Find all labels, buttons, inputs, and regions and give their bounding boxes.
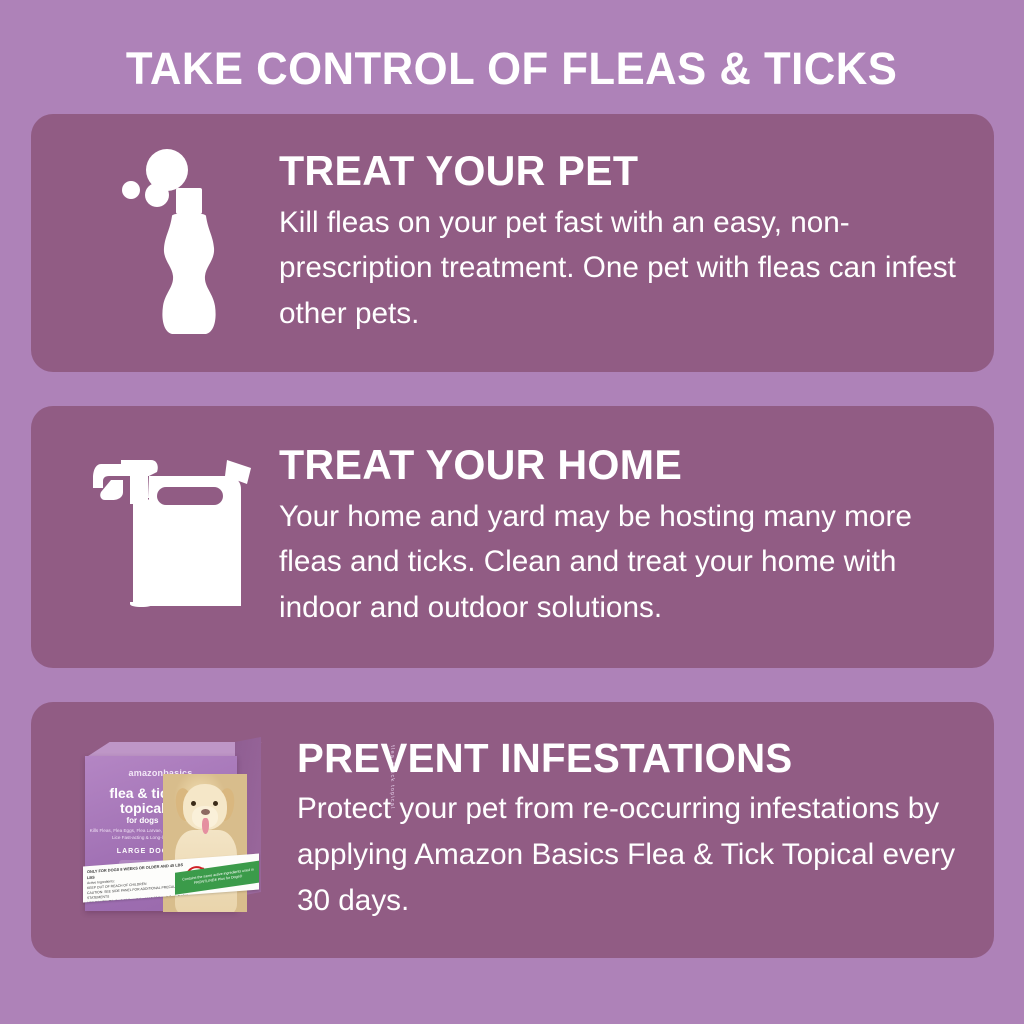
icon-container-2 [75,454,275,620]
infographic-page: TAKE CONTROL OF FLEAS & TICKS TREAT YOUR… [0,0,1024,1024]
benefit-cards-list: TREAT YOUR PET Kill fleas on your pet fa… [31,114,994,958]
page-title: TAKE CONTROL OF FLEAS & TICKS [126,46,897,91]
card-treat-your-pet: TREAT YOUR PET Kill fleas on your pet fa… [31,114,994,372]
dog-eye-left [191,801,196,806]
card-body-1: Kill fleas on your pet fast with an easy… [279,200,961,337]
dog-tongue [202,818,209,834]
text-container-2: TREAT YOUR HOME Your home and yard may b… [275,443,972,630]
card-body-3: Protect your pet from re-occurring infes… [297,786,961,923]
card-prevent-infestations: flea & tick topical amazonbasics flea & … [31,702,994,958]
card-heading-2: TREAT YOUR HOME [279,443,954,488]
icon-container-3: flea & tick topical amazonbasics flea & … [61,742,293,918]
card-heading-3: PREVENT INFESTATIONS [297,737,955,780]
card-body-2: Your home and yard may be hosting many m… [279,494,961,631]
text-container-3: PREVENT INFESTATIONS Protect your pet fr… [293,737,972,923]
product-box-image: flea & tick topical amazonbasics flea & … [79,742,275,918]
dog-nose [201,809,210,815]
dog-eye-right [213,801,218,806]
bottle-with-bubbles-icon [110,148,240,338]
card-treat-your-home: TREAT YOUR HOME Your home and yard may b… [31,406,994,668]
card-heading-1: TREAT YOUR PET [279,149,954,194]
icon-container-1 [75,148,275,338]
spray-bottle-and-jug-icon [91,454,259,620]
text-container-1: TREAT YOUR PET Kill fleas on your pet fa… [275,149,972,336]
